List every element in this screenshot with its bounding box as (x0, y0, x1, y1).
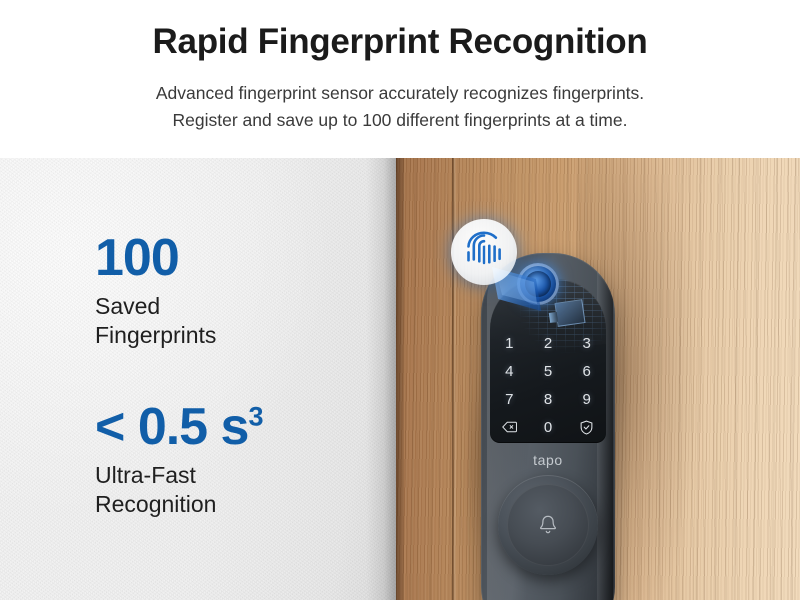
backspace-icon[interactable] (490, 413, 529, 441)
smart-lock-device: 1 2 3 4 5 6 7 8 9 0 (481, 253, 615, 600)
fingerprint-badge (451, 219, 517, 285)
subtitle-line-1: Advanced fingerprint sensor accurately r… (156, 83, 644, 103)
key-0[interactable]: 0 (529, 413, 568, 441)
promo-page: Rapid Fingerprint Recognition Advanced f… (0, 0, 800, 600)
key-2[interactable]: 2 (529, 329, 568, 357)
brand-logo-tapo: tapo (481, 452, 615, 468)
stat-value: < 0.5 s3 (95, 401, 263, 453)
key-4[interactable]: 4 (490, 357, 529, 385)
shield-check-icon[interactable] (567, 413, 606, 441)
hero-scene: 100 Saved Fingerprints < 0.5 s3 Ultra-Fa… (0, 158, 800, 600)
stat-footnote-marker: 3 (248, 402, 262, 432)
key-1[interactable]: 1 (490, 329, 529, 357)
header: Rapid Fingerprint Recognition Advanced f… (0, 0, 800, 158)
key-5[interactable]: 5 (529, 357, 568, 385)
stat-block-saved-fingerprints: 100 Saved Fingerprints (95, 232, 263, 351)
stat-value: 100 (95, 232, 263, 284)
stat-label: Ultra-Fast Recognition (95, 461, 263, 520)
stat-block-recognition-speed: < 0.5 s3 Ultra-Fast Recognition (95, 401, 263, 520)
keypad[interactable]: 1 2 3 4 5 6 7 8 9 0 (490, 329, 606, 441)
fingerprint-sensor-inner (525, 271, 551, 297)
key-9[interactable]: 9 (567, 385, 606, 413)
key-3[interactable]: 3 (567, 329, 606, 357)
knob-face (507, 484, 589, 566)
key-6[interactable]: 6 (567, 357, 606, 385)
stats-group: 100 Saved Fingerprints < 0.5 s3 Ultra-Fa… (95, 232, 263, 520)
key-8[interactable]: 8 (529, 385, 568, 413)
stat-value-text: < 0.5 s (95, 398, 248, 456)
page-subtitle: Advanced fingerprint sensor accurately r… (156, 80, 644, 133)
subtitle-line-2: Register and save up to 100 different fi… (173, 110, 628, 130)
lock-knob[interactable] (498, 475, 598, 575)
bell-icon (538, 514, 558, 536)
fingerprint-sensor-button[interactable] (517, 263, 559, 305)
door-left-edge (396, 158, 404, 600)
device-body: 1 2 3 4 5 6 7 8 9 0 (481, 253, 615, 600)
stat-value-text: 100 (95, 229, 179, 287)
page-title: Rapid Fingerprint Recognition (153, 24, 648, 59)
key-7[interactable]: 7 (490, 385, 529, 413)
stat-label: Saved Fingerprints (95, 292, 263, 351)
fingerprint-icon (451, 219, 517, 285)
wall-edge-shadow (366, 158, 396, 600)
